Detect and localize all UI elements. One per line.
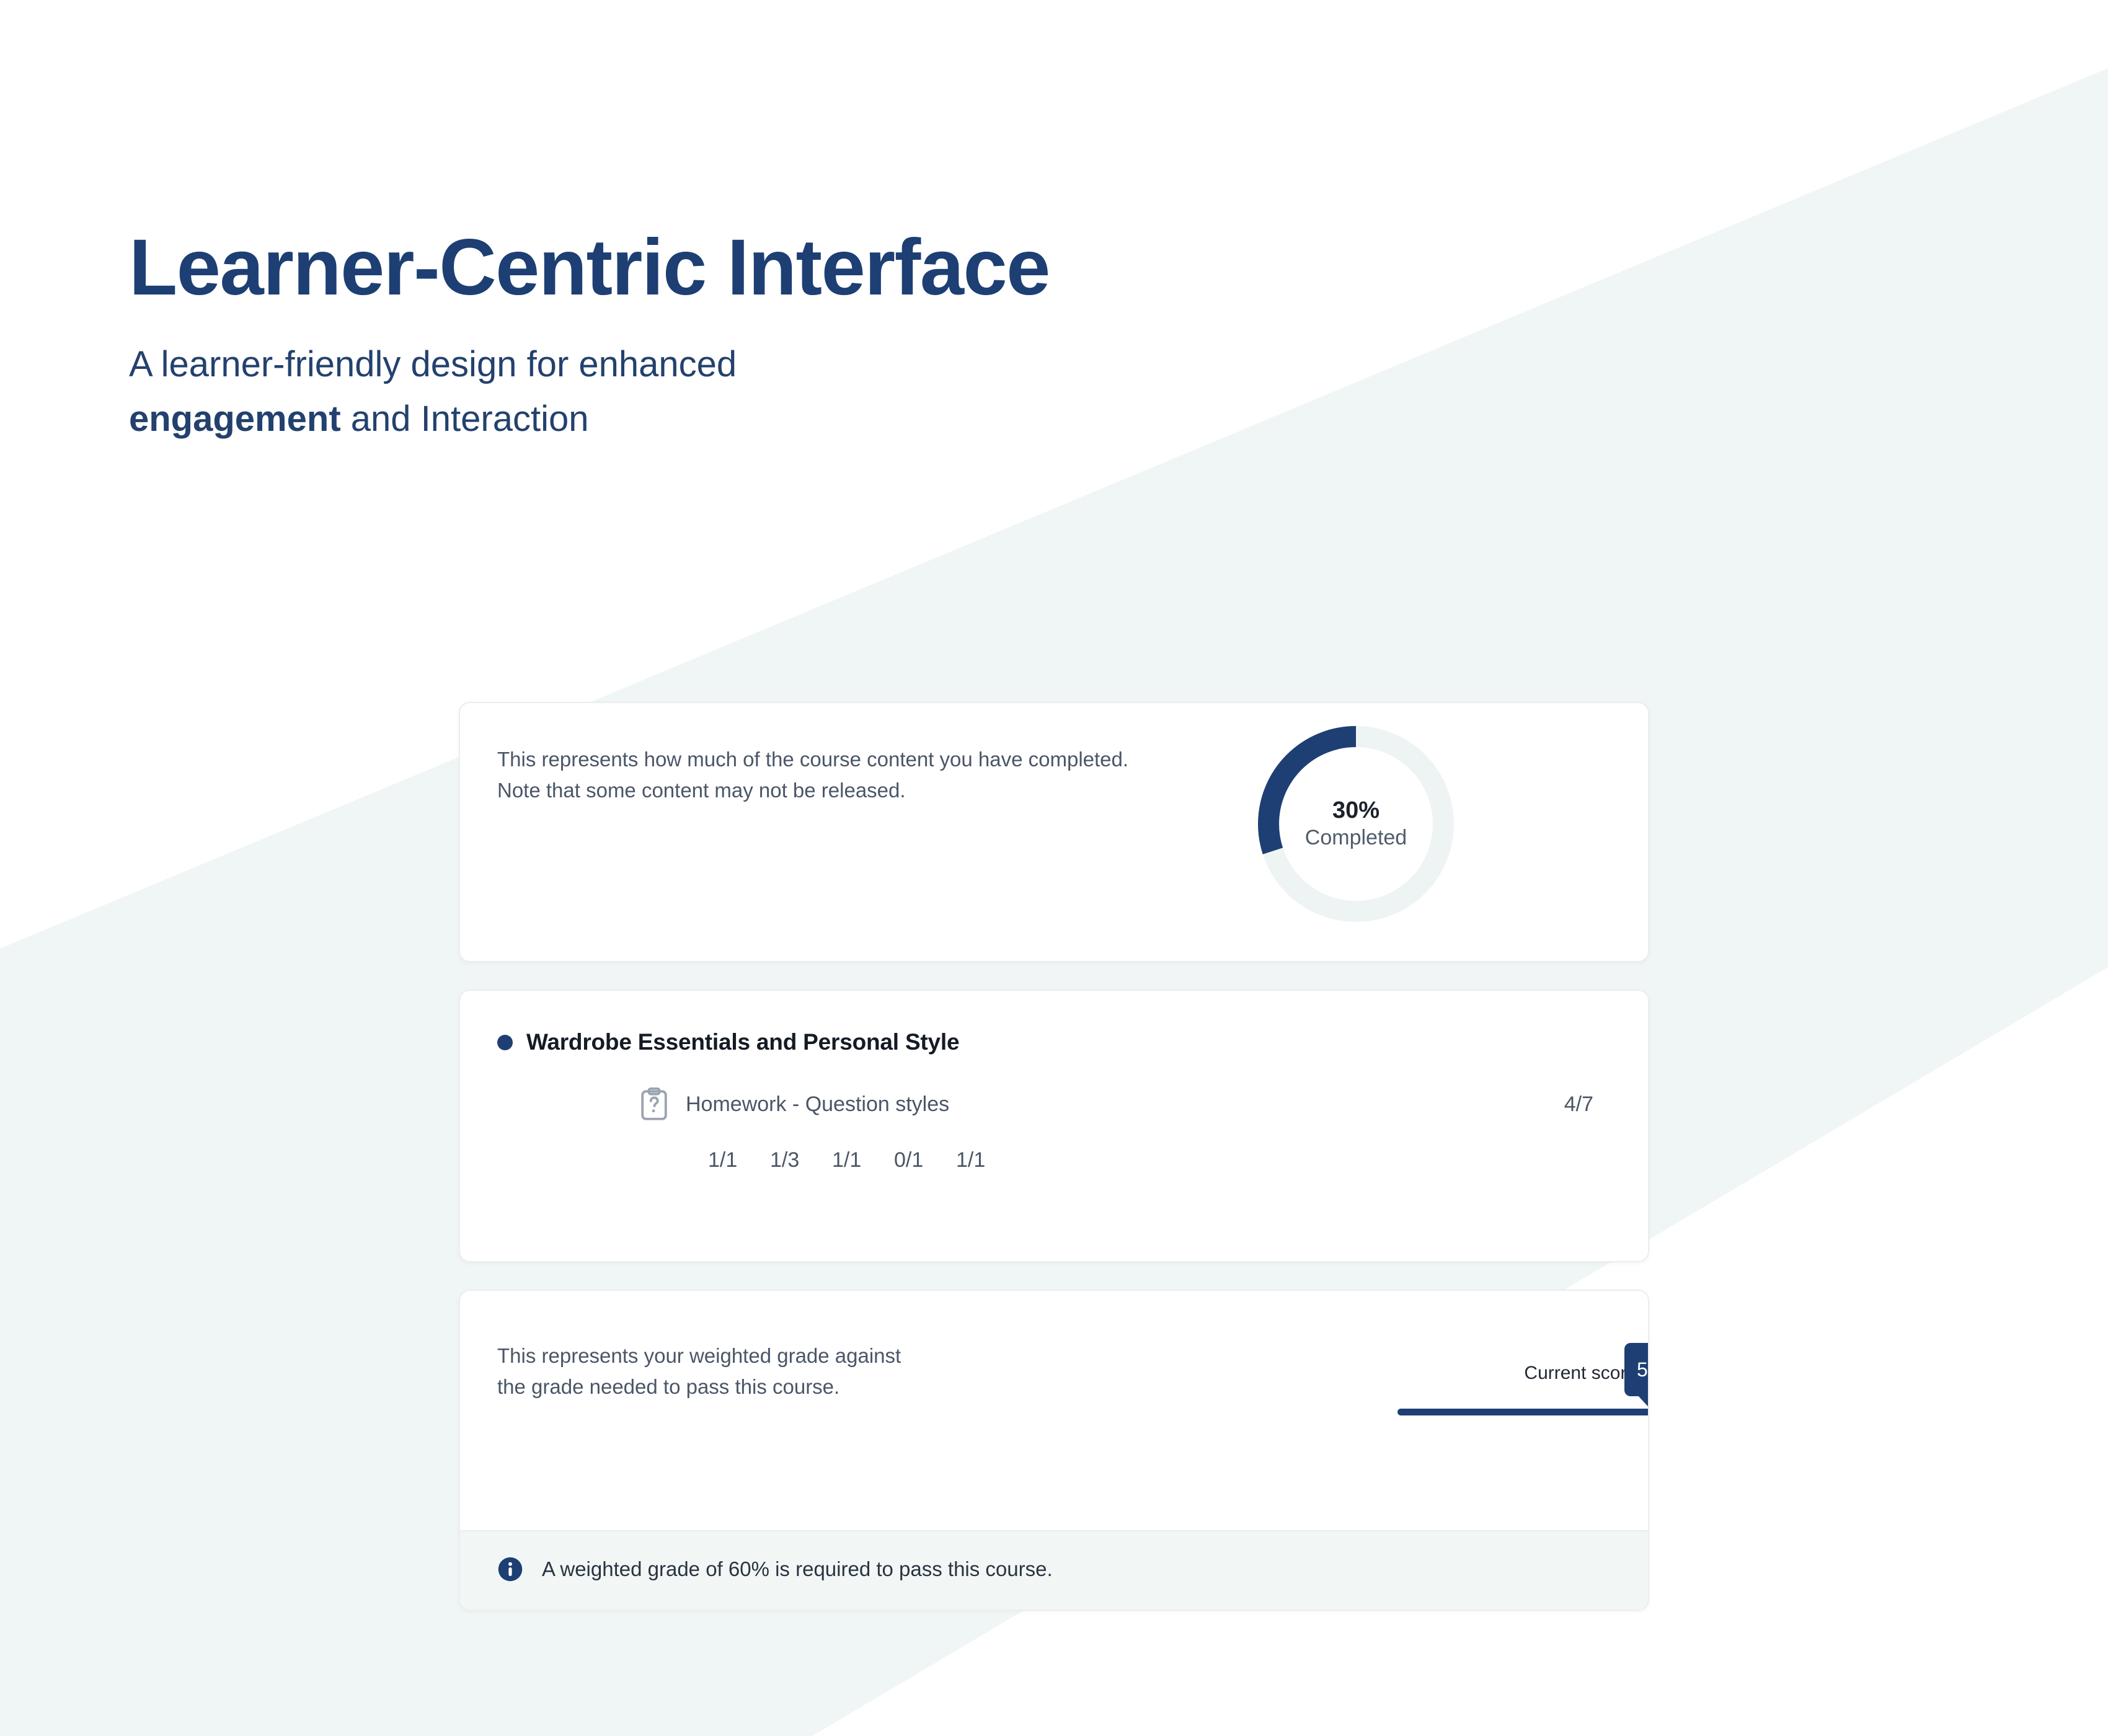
module-card: Wardrobe Essentials and Personal Style H…	[459, 990, 1649, 1262]
assignment-score: 4/7	[1564, 1092, 1593, 1117]
question-score[interactable]: 1/1	[832, 1148, 864, 1172]
donut-status-label: Completed	[1305, 825, 1407, 851]
module-title: Wardrobe Essentials and Personal Style	[526, 1029, 959, 1055]
donut-center-labels: 30% Completed	[1254, 722, 1458, 926]
info-circle-icon	[497, 1556, 523, 1582]
question-score[interactable]: 1/1	[708, 1148, 740, 1172]
completion-donut-chart: 30% Completed	[1254, 722, 1458, 926]
question-score[interactable]: 1/1	[956, 1148, 988, 1172]
grade-card-body: This represents your weighted grade agai…	[460, 1291, 1648, 1530]
page-title: Learner-Centric Interface	[129, 228, 1245, 308]
current-score-bubble[interactable]: 5%	[1624, 1343, 1649, 1396]
current-score-value: 5%	[1637, 1358, 1649, 1381]
assignment-name: Homework - Question styles	[686, 1092, 1564, 1117]
module-header[interactable]: Wardrobe Essentials and Personal Style	[497, 1029, 1611, 1055]
grade-description: This represents your weighted grade agai…	[497, 1340, 931, 1471]
grade-note-bar: A weighted grade of 60% is required to p…	[460, 1530, 1648, 1610]
filled-circle-icon	[497, 1035, 513, 1050]
grade-note-text: A weighted grade of 60% is required to p…	[542, 1557, 1053, 1581]
assignment-row[interactable]: Homework - Question styles 4/7	[497, 1087, 1611, 1121]
current-score-label: Current score	[1524, 1363, 1637, 1384]
clipboard-question-icon	[640, 1087, 668, 1121]
grade-slider-current-fill	[1397, 1409, 1649, 1415]
subtitle-emphasis: engagement	[129, 399, 341, 439]
donut-percent-label: 30%	[1332, 797, 1379, 825]
passing-score-group: Passing score 75%	[1397, 1421, 1649, 1502]
card-stack: This represents how much of the course c…	[459, 702, 1649, 1611]
progress-description: This represents how much of the course c…	[497, 744, 1154, 806]
course-progress-card: This represents how much of the course c…	[459, 702, 1649, 962]
grade-slider[interactable]: Current score 5% Passing score 75%	[940, 1340, 1611, 1471]
question-score-list: 1/1 1/3 1/1 0/1 1/1	[497, 1148, 1611, 1172]
subtitle-text-trailing: and Interaction	[341, 399, 589, 439]
weighted-grade-card: This represents your weighted grade agai…	[459, 1290, 1649, 1611]
page-header: Learner-Centric Interface A learner-frie…	[129, 228, 1245, 446]
question-score[interactable]: 0/1	[894, 1148, 926, 1172]
question-score[interactable]: 1/3	[770, 1148, 802, 1172]
grade-slider-track[interactable]	[1397, 1409, 1649, 1415]
current-score-group: Current score 5%	[1397, 1340, 1649, 1409]
page-subtitle: A learner-friendly design for enhanced e…	[129, 337, 811, 446]
subtitle-text-leading: A learner-friendly design for enhanced	[129, 344, 737, 384]
